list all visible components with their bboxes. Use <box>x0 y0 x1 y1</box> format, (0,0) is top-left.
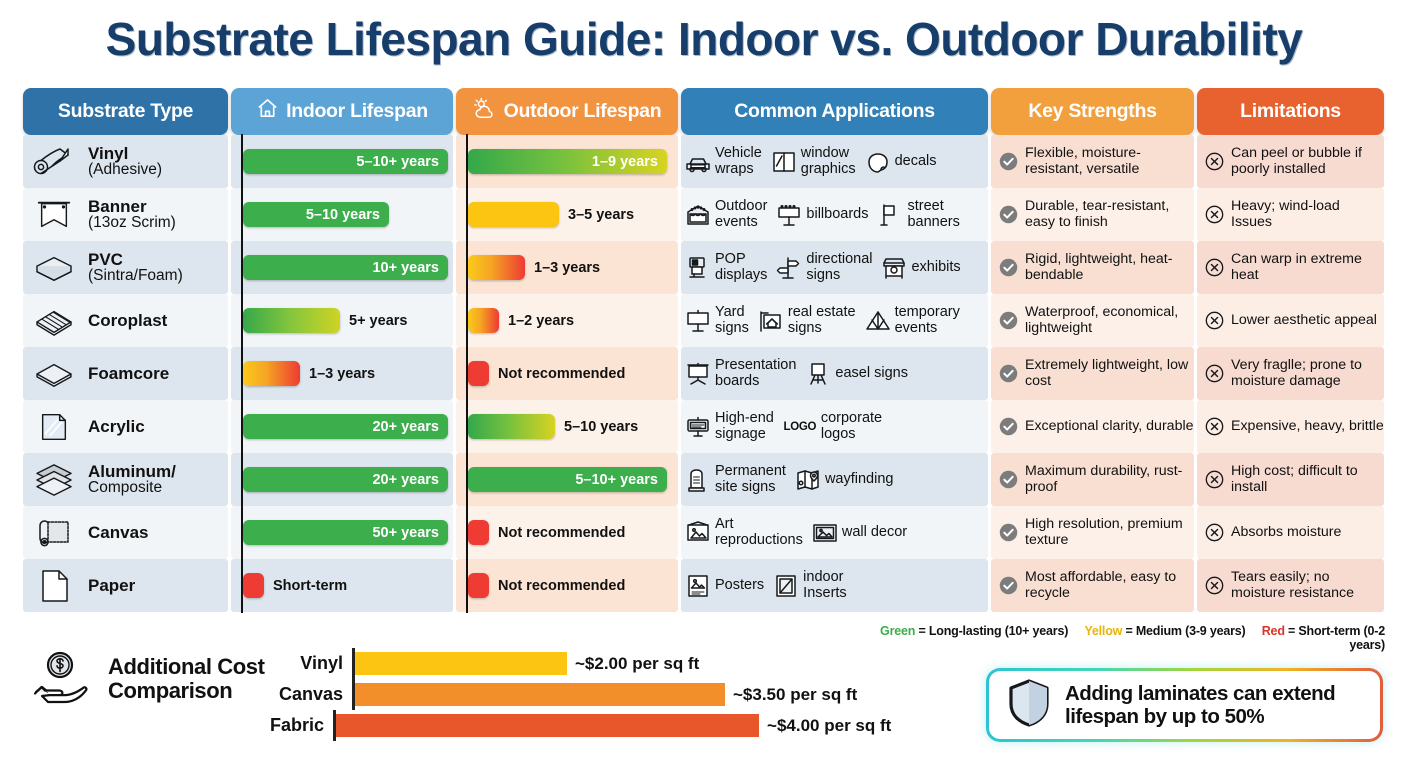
cost-bar-category: Vinyl <box>270 653 352 674</box>
application-item[interactable]: temporaryevents <box>865 305 960 335</box>
substrate-cell: Acrylic <box>23 400 228 453</box>
cost-bar <box>355 683 725 706</box>
outdoor-lifespan-cell: Not recommended <box>456 506 678 559</box>
check-icon <box>999 576 1018 595</box>
strength-cell: Maximum durability, rust-proof <box>991 453 1194 506</box>
application-label: Outdoorevents <box>715 199 767 229</box>
lifespan-bar-label: Not recommended <box>498 366 625 382</box>
cost-comparison-title-block: Additional Cost Comparison <box>30 648 265 709</box>
baseline-axis <box>466 293 468 348</box>
lifespan-bar <box>468 573 489 598</box>
hand-coin-icon <box>30 648 94 709</box>
lifespan-bar-label: Short-term <box>273 578 347 594</box>
limitation-text: Lower aesthetic appeal <box>1231 313 1377 329</box>
indoor-lifespan-cell: 20+ years <box>231 453 453 506</box>
limitation-text: Can peel or bubble if poorly installed <box>1231 146 1384 178</box>
limitation-text: High cost; difficult to install <box>1231 464 1384 496</box>
indoor-lifespan-cell: 1–3 years <box>231 347 453 400</box>
application-item[interactable]: real estatesigns <box>758 305 856 335</box>
table-row: Canvas 50+ years Not recommended Artrepr… <box>23 506 1385 559</box>
lifespan-bar <box>468 202 559 227</box>
baseline-axis <box>466 187 468 242</box>
cost-bar-value: ~$3.50 per sq ft <box>733 685 857 705</box>
wall-decor-icon <box>812 520 838 546</box>
lifespan-bar: 5–10 years <box>243 202 389 227</box>
column-header-label: Limitations <box>1240 100 1341 123</box>
check-icon <box>999 364 1018 383</box>
laminate-callout: Adding laminates can extend lifespan by … <box>986 668 1383 742</box>
application-item[interactable]: Permanentsite signs <box>685 464 786 494</box>
application-item[interactable]: wall decor <box>812 520 907 546</box>
column-header-outdoor-lifespan[interactable]: Outdoor Lifespan <box>456 88 678 135</box>
table-row: Acrylic 20+ years 5–10 years High-endsig… <box>23 400 1385 453</box>
baseline-axis <box>466 558 468 613</box>
foam-sheet-icon <box>31 355 77 393</box>
column-header-substrate-type[interactable]: Substrate Type <box>23 88 228 135</box>
application-label: Posters <box>715 578 764 593</box>
x-circle-icon <box>1205 152 1224 171</box>
substrate-name: Canvas <box>88 524 148 542</box>
strength-cell: Exceptional clarity, durable <box>991 400 1194 453</box>
application-label: billboards <box>806 207 868 222</box>
application-label: High-endsignage <box>715 411 774 441</box>
column-header-common-applications[interactable]: Common Applications <box>681 88 988 135</box>
column-header-label: Indoor Lifespan <box>286 100 428 123</box>
applications-cell: PostersindoorInserts <box>681 559 988 612</box>
substrate-cell: Foamcore <box>23 347 228 400</box>
real-estate-sign-icon <box>758 308 784 334</box>
table-row: Aluminum/Composite 20+ years 5–10+ years… <box>23 453 1385 506</box>
substrate-cell: Banner(13oz Scrim) <box>23 188 228 241</box>
cost-bar-category: Fabric <box>270 715 333 736</box>
lifespan-bar-label: 1–9 years <box>592 154 658 170</box>
legend-green: Green = Long-lasting (10+ years) <box>880 624 1068 638</box>
lifespan-bar-label: 5–10+ years <box>356 154 439 170</box>
applications-cell: Artreproductionswall decor <box>681 506 988 559</box>
outdoor-lifespan-cell: 1–9 years <box>456 135 678 188</box>
vinyl-roll-icon <box>31 143 77 181</box>
application-item[interactable]: POPdisplays <box>685 252 767 282</box>
limitation-text: Heavy; wind-load Issues <box>1231 199 1384 231</box>
cost-comparison-title: Additional Cost Comparison <box>108 655 265 703</box>
substrate-name: Paper <box>88 577 135 595</box>
limitation-cell: Absorbs moisture <box>1197 506 1384 559</box>
x-circle-icon <box>1205 417 1224 436</box>
x-circle-icon <box>1205 523 1224 542</box>
lifespan-bar: 1–9 years <box>468 149 667 174</box>
cost-bar-row: Fabric ~$4.00 per sq ft <box>270 710 870 741</box>
baseline-axis <box>241 293 243 348</box>
lifespan-bar <box>468 308 499 333</box>
home-icon <box>256 97 279 126</box>
lifespan-bar-label: 5–10 years <box>564 419 638 435</box>
strength-cell: Rigid, lightweight, heat-bendable <box>991 241 1194 294</box>
lifespan-bar: 5–10+ years <box>468 467 667 492</box>
baseline-axis <box>241 505 243 560</box>
cost-comparison-chart: Vinyl ~$2.00 per sq ft Canvas ~$3.50 per… <box>270 648 870 741</box>
limitation-cell: Lower aesthetic appeal <box>1197 294 1384 347</box>
substrate-cell: Canvas <box>23 506 228 559</box>
applications-cell: POPdisplaysdirectionalsignsexhibits <box>681 241 988 294</box>
strength-text: Extremely lightweight, low cost <box>1025 358 1194 390</box>
table-row: Vinyl(Adhesive) 5–10+ years 1–9 years Ve… <box>23 135 1385 188</box>
application-item[interactable]: Outdoorevents <box>685 199 767 229</box>
outdoor-lifespan-cell: 1–3 years <box>456 241 678 294</box>
limitation-cell: Tears easily; no moisture resistance <box>1197 559 1384 612</box>
cost-bar <box>355 652 567 675</box>
application-label: decals <box>895 154 937 169</box>
strength-text: Most affordable, easy to recycle <box>1025 570 1194 602</box>
strength-text: Rigid, lightweight, heat-bendable <box>1025 252 1194 284</box>
column-header-indoor-lifespan[interactable]: Indoor Lifespan <box>231 88 453 135</box>
application-item[interactable]: Yardsigns <box>685 305 749 335</box>
table-row: Foamcore 1–3 years Not recommended Prese… <box>23 347 1385 400</box>
application-item[interactable]: LOGOcorporatelogos <box>783 411 882 441</box>
applications-cell: Permanentsite signswayfinding <box>681 453 988 506</box>
substrate-cell: PVC(Sintra/Foam) <box>23 241 228 294</box>
check-icon <box>999 417 1018 436</box>
lifespan-bar: 50+ years <box>243 520 448 545</box>
map-pin-icon <box>795 467 821 493</box>
baseline-axis <box>466 399 468 454</box>
application-item[interactable]: streetbanners <box>877 199 959 229</box>
application-label: exhibits <box>911 260 960 275</box>
strength-cell: Durable, tear-resistant, easy to finish <box>991 188 1194 241</box>
application-label: streetbanners <box>907 199 959 229</box>
logo-icon: LOGO <box>783 414 817 440</box>
application-item[interactable]: Presentationboards <box>685 358 796 388</box>
lifespan-bar-label: 20+ years <box>372 472 439 488</box>
cost-bar-row: Canvas ~$3.50 per sq ft <box>270 679 870 710</box>
color-legend: Green = Long-lasting (10+ years) Yellow … <box>845 624 1385 652</box>
table-row: Coroplast 5+ years 1–2 years Yardsignsre… <box>23 294 1385 347</box>
corrugated-icon <box>31 302 77 340</box>
application-label: POPdisplays <box>715 252 767 282</box>
lifespan-bar-label: 5–10 years <box>306 207 380 223</box>
check-icon <box>999 523 1018 542</box>
cost-bar-category: Canvas <box>270 684 352 705</box>
window-icon <box>771 149 797 175</box>
cost-bar <box>336 714 759 737</box>
page-title: Substrate Lifespan Guide: Indoor vs. Out… <box>0 0 1408 72</box>
check-icon <box>999 152 1018 171</box>
application-item[interactable]: exhibits <box>881 255 960 281</box>
strength-text: High resolution, premium texture <box>1025 517 1194 549</box>
baseline-axis <box>241 134 243 189</box>
lifespan-bar-label: Not recommended <box>498 578 625 594</box>
x-circle-icon <box>1205 258 1224 277</box>
application-label: Permanentsite signs <box>715 464 786 494</box>
lifespan-bar <box>468 361 489 386</box>
application-item[interactable]: Posters <box>685 573 764 599</box>
limitation-text: Absorbs moisture <box>1231 525 1341 541</box>
application-item[interactable]: High-endsignage <box>685 411 774 441</box>
strength-text: Waterproof, economical, lightweight <box>1025 305 1194 337</box>
baseline-axis <box>466 505 468 560</box>
limitation-cell: Can warp in extreme heat <box>1197 241 1384 294</box>
substrate-name: Coroplast <box>88 312 167 330</box>
substrate-name: Acrylic <box>88 418 145 436</box>
limitation-text: Can warp in extreme heat <box>1231 252 1384 284</box>
substrate-name: Vinyl(Adhesive) <box>88 145 162 178</box>
lifespan-bar <box>468 520 489 545</box>
billboard-icon <box>776 202 802 228</box>
lifespan-bar-label: 10+ years <box>372 260 439 276</box>
check-icon <box>999 205 1018 224</box>
indoor-lifespan-cell: 50+ years <box>231 506 453 559</box>
cost-bar-value: ~$2.00 per sq ft <box>575 654 699 674</box>
outdoor-event-icon <box>685 202 711 228</box>
applications-cell: Outdooreventsbillboardsstreetbanners <box>681 188 988 241</box>
limitation-cell: Can peel or bubble if poorly installed <box>1197 135 1384 188</box>
lifespan-bar: 5–10+ years <box>243 149 448 174</box>
street-banner-icon <box>877 202 903 228</box>
application-item[interactable]: indoorInserts <box>773 570 847 600</box>
outdoor-lifespan-cell: 1–2 years <box>456 294 678 347</box>
strength-text: Flexible, moisture-resistant, versatile <box>1025 146 1194 178</box>
limitation-cell: Heavy; wind-load Issues <box>1197 188 1384 241</box>
lifespan-bar: 10+ years <box>243 255 448 280</box>
strength-cell: Waterproof, economical, lightweight <box>991 294 1194 347</box>
sun-cloud-icon <box>473 97 497 126</box>
x-circle-icon <box>1205 364 1224 383</box>
outdoor-lifespan-cell: 3–5 years <box>456 188 678 241</box>
outdoor-lifespan-cell: Not recommended <box>456 347 678 400</box>
application-item[interactable]: billboards <box>776 202 868 228</box>
exhibit-icon <box>881 255 907 281</box>
baseline-axis <box>241 399 243 454</box>
baseline-axis <box>466 240 468 295</box>
substrate-name: Foamcore <box>88 365 169 383</box>
strength-text: Maximum durability, rust-proof <box>1025 464 1194 496</box>
application-label: directionalsigns <box>806 252 872 282</box>
table-row: Paper Short-term Not recommended Posters… <box>23 559 1385 612</box>
strength-text: Durable, tear-resistant, easy to finish <box>1025 199 1194 231</box>
laminate-callout-text: Adding laminates can extend lifespan by … <box>1065 682 1335 728</box>
application-label: wall decor <box>842 525 907 540</box>
applications-cell: High-endsignageLOGOcorporatelogos <box>681 400 988 453</box>
directional-sign-icon <box>776 255 802 281</box>
application-item[interactable]: Vehiclewraps <box>685 146 762 176</box>
outdoor-lifespan-cell: Not recommended <box>456 559 678 612</box>
tent-icon <box>865 308 891 334</box>
application-label: indoorInserts <box>803 570 847 600</box>
applications-cell: Yardsignsreal estatesignstemporaryevents <box>681 294 988 347</box>
indoor-lifespan-cell: 20+ years <box>231 400 453 453</box>
substrate-name: PVC(Sintra/Foam) <box>88 251 183 284</box>
easel-icon <box>805 361 831 387</box>
application-label: temporaryevents <box>895 305 960 335</box>
limitation-text: Very fraglle; prone to moisture damage <box>1231 358 1384 390</box>
legend-yellow: Yellow = Medium (3-9 years) <box>1084 624 1245 638</box>
limitation-cell: Very fraglle; prone to moisture damage <box>1197 347 1384 400</box>
lifespan-bar <box>243 573 264 598</box>
poster-icon <box>685 573 711 599</box>
acrylic-sheet-icon <box>31 408 77 446</box>
lifespan-bar: 20+ years <box>243 414 448 439</box>
lifespan-bar <box>243 308 340 333</box>
limitation-cell: High cost; difficult to install <box>1197 453 1384 506</box>
baseline-axis <box>466 346 468 401</box>
frame-icon <box>773 573 799 599</box>
application-label: windowgraphics <box>801 146 856 176</box>
vehicle-icon <box>685 149 711 175</box>
application-item[interactable]: directionalsigns <box>776 252 872 282</box>
lifespan-bar-label: Not recommended <box>498 525 625 541</box>
lifespan-bar <box>468 414 555 439</box>
canvas-roll-icon <box>31 514 77 552</box>
lifespan-bar-label: 20+ years <box>372 419 439 435</box>
baseline-axis <box>466 452 468 507</box>
strength-text: Exceptional clarity, durable <box>1025 419 1194 435</box>
table-row: PVC(Sintra/Foam) 10+ years 1–3 years POP… <box>23 241 1385 294</box>
decal-icon <box>865 149 891 175</box>
application-label: Vehiclewraps <box>715 146 762 176</box>
lifespan-bar <box>468 255 525 280</box>
lifespan-bar-label: 1–3 years <box>534 260 600 276</box>
column-header-label: Outdoor Lifespan <box>504 100 662 123</box>
table-header-row: Substrate Type Indoor Lifespan Outdoor L… <box>23 88 1385 135</box>
lifespan-bar-label: 5–10+ years <box>575 472 658 488</box>
outdoor-lifespan-cell: 5–10 years <box>456 400 678 453</box>
baseline-axis <box>241 187 243 242</box>
limitation-text: Tears easily; no moisture resistance <box>1231 570 1384 602</box>
table-row: Banner(13oz Scrim) 5–10 years 3–5 years … <box>23 188 1385 241</box>
application-label: Artreproductions <box>715 517 803 547</box>
column-header-label: Substrate Type <box>58 100 193 123</box>
indoor-lifespan-cell: 5–10+ years <box>231 135 453 188</box>
column-header-label: Key Strengths <box>1028 100 1156 123</box>
strength-cell: Extremely lightweight, low cost <box>991 347 1194 400</box>
application-item[interactable]: decals <box>865 149 937 175</box>
application-item[interactable]: windowgraphics <box>771 146 856 176</box>
cost-bar-row: Vinyl ~$2.00 per sq ft <box>270 648 870 679</box>
application-label: wayfinding <box>825 472 894 487</box>
limitation-cell: Expensive, heavy, brittle <box>1197 400 1384 453</box>
pvc-board-icon <box>31 249 77 287</box>
substrate-name: Aluminum/Composite <box>88 463 176 496</box>
application-label: easel signs <box>835 366 908 381</box>
monument-sign-icon <box>685 467 711 493</box>
lifespan-bar-label: 3–5 years <box>568 207 634 223</box>
applications-cell: Vehiclewrapswindowgraphicsdecals <box>681 135 988 188</box>
outdoor-lifespan-cell: 5–10+ years <box>456 453 678 506</box>
substrate-cell: Coroplast <box>23 294 228 347</box>
column-header-key-strengths[interactable]: Key Strengths <box>991 88 1194 135</box>
check-icon <box>999 311 1018 330</box>
baseline-axis <box>241 558 243 613</box>
premium-sign-icon <box>685 414 711 440</box>
pop-display-icon <box>685 255 711 281</box>
strength-cell: Flexible, moisture-resistant, versatile <box>991 135 1194 188</box>
lifespan-bar <box>243 361 300 386</box>
lifespan-bar-label: 1–2 years <box>508 313 574 329</box>
x-circle-icon <box>1205 311 1224 330</box>
indoor-lifespan-cell: 5–10 years <box>231 188 453 241</box>
substrate-cell: Vinyl(Adhesive) <box>23 135 228 188</box>
indoor-lifespan-cell: 5+ years <box>231 294 453 347</box>
application-label: Presentationboards <box>715 358 796 388</box>
x-circle-icon <box>1205 470 1224 489</box>
applications-cell: Presentationboardseasel signs <box>681 347 988 400</box>
column-header-label: Common Applications <box>734 100 935 123</box>
strength-cell: Most affordable, easy to recycle <box>991 559 1194 612</box>
lifespan-bar-label: 5+ years <box>349 313 407 329</box>
presentation-board-icon <box>685 361 711 387</box>
framed-art-icon <box>685 520 711 546</box>
metal-stack-icon <box>31 461 77 499</box>
column-header-limitations[interactable]: Limitations <box>1197 88 1384 135</box>
table-body: Vinyl(Adhesive) 5–10+ years 1–9 years Ve… <box>23 135 1385 612</box>
comparison-table: Substrate Type Indoor Lifespan Outdoor L… <box>23 88 1385 612</box>
cost-bar-value: ~$4.00 per sq ft <box>767 716 891 736</box>
indoor-lifespan-cell: 10+ years <box>231 241 453 294</box>
yard-sign-icon <box>685 308 711 334</box>
substrate-cell: Aluminum/Composite <box>23 453 228 506</box>
lifespan-bar: 20+ years <box>243 467 448 492</box>
lifespan-bar-label: 1–3 years <box>309 366 375 382</box>
x-circle-icon <box>1205 205 1224 224</box>
application-item[interactable]: Artreproductions <box>685 517 803 547</box>
banner-icon <box>31 196 77 234</box>
shield-icon <box>1006 678 1052 733</box>
application-label: Yardsigns <box>715 305 749 335</box>
check-icon <box>999 258 1018 277</box>
indoor-lifespan-cell: Short-term <box>231 559 453 612</box>
x-circle-icon <box>1205 576 1224 595</box>
lifespan-bar-label: 50+ years <box>372 525 439 541</box>
legend-red: Red = Short-term (0-2 years) <box>1262 624 1385 652</box>
baseline-axis <box>241 240 243 295</box>
limitation-text: Expensive, heavy, brittle <box>1231 419 1384 435</box>
application-item[interactable]: easel signs <box>805 361 908 387</box>
baseline-axis <box>241 452 243 507</box>
baseline-axis <box>241 346 243 401</box>
application-label: real estatesigns <box>788 305 856 335</box>
substrate-cell: Paper <box>23 559 228 612</box>
strength-cell: High resolution, premium texture <box>991 506 1194 559</box>
baseline-axis <box>466 134 468 189</box>
check-icon <box>999 470 1018 489</box>
application-item[interactable]: wayfinding <box>795 467 894 493</box>
application-label: corporatelogos <box>821 411 882 441</box>
paper-sheet-icon <box>31 567 77 605</box>
substrate-name: Banner(13oz Scrim) <box>88 198 176 231</box>
